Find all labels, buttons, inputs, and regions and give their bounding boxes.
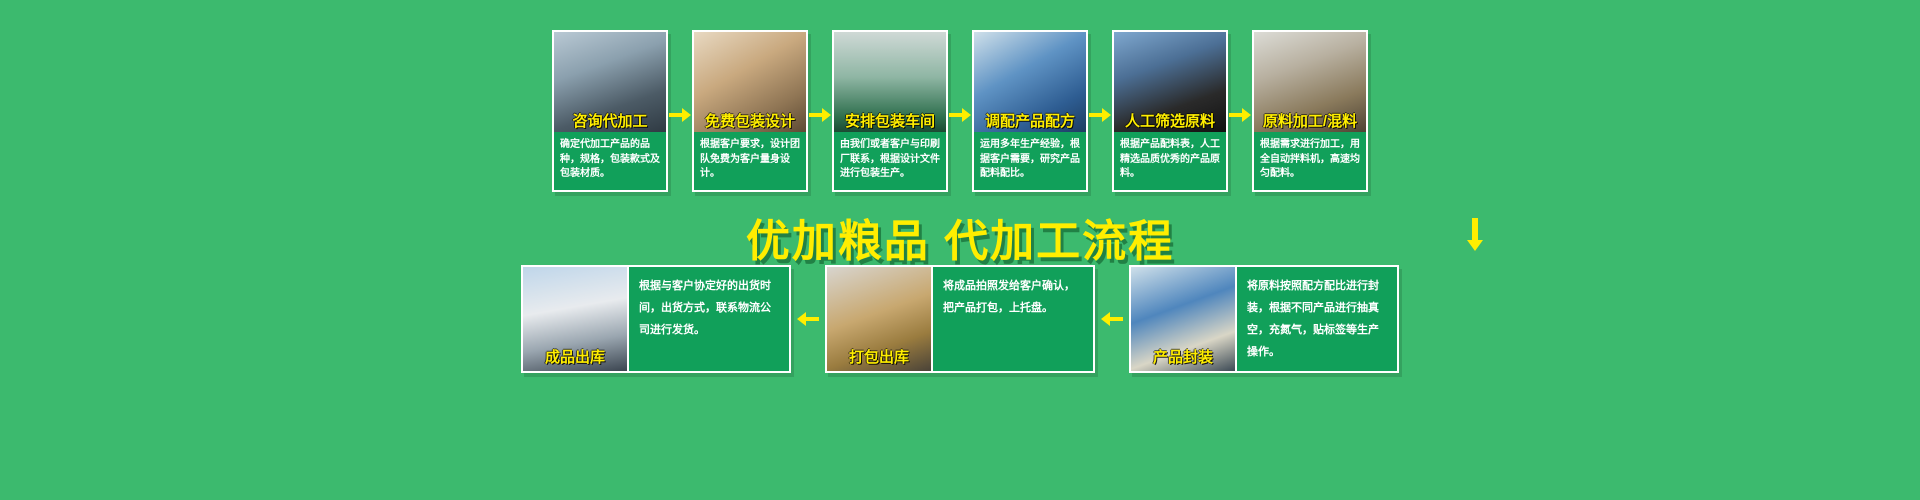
- step-badge-1: 咨询代加工: [554, 114, 666, 131]
- step-badge-4: 调配产品配方: [974, 114, 1086, 131]
- step-desc-8: 将成品拍照发给客户确认，把产品打包，上托盘。: [933, 267, 1093, 371]
- page-title: 优加粮品 代加工流程: [0, 205, 1920, 269]
- arrow-right-icon-2: [808, 30, 832, 200]
- step-desc-7: 将原料按照配方配比进行封装，根据不同产品进行抽真空，充氮气，贴标签等生产操作。: [1237, 267, 1397, 371]
- step-desc-1: 确定代加工产品的品种，规格，包装款式及包装材质。: [554, 132, 666, 190]
- arrow-left-icon-2: [1095, 265, 1129, 373]
- step-card-9[interactable]: 成品出库 根据与客户协定好的出货时间，出货方式，联系物流公司进行发货。: [521, 265, 791, 373]
- arrow-right-icon-5: [1228, 30, 1252, 200]
- step-photo-2: 免费包装设计: [694, 32, 806, 132]
- step-photo-5: 人工筛选原料: [1114, 32, 1226, 132]
- step-card-2[interactable]: 免费包装设计 根据客户要求，设计团队免费为客户量身设计。: [692, 30, 808, 192]
- top-step-row: 咨询代加工 确定代加工产品的品种，规格，包装款式及包装材质。 免费包装设计 根据…: [0, 30, 1920, 200]
- step-badge-2: 免费包装设计: [694, 114, 806, 131]
- step-badge-3: 安排包装车间: [834, 114, 946, 131]
- step-card-6[interactable]: 原料加工/混料 根据需求进行加工，用全自动拌料机，高速均匀配料。: [1252, 30, 1368, 192]
- step-photo-9: 成品出库: [523, 267, 629, 371]
- step-desc-3: 由我们或者客户与印刷厂联系，根据设计文件进行包装生产。: [834, 132, 946, 190]
- step-desc-9: 根据与客户协定好的出货时间，出货方式，联系物流公司进行发货。: [629, 267, 789, 371]
- step-desc-6: 根据需求进行加工，用全自动拌料机，高速均匀配料。: [1254, 132, 1366, 190]
- step-photo-1: 咨询代加工: [554, 32, 666, 132]
- arrow-right-icon-3: [948, 30, 972, 200]
- step-photo-7: 产品封装: [1131, 267, 1237, 371]
- step-photo-4: 调配产品配方: [974, 32, 1086, 132]
- step-card-3[interactable]: 安排包装车间 由我们或者客户与印刷厂联系，根据设计文件进行包装生产。: [832, 30, 948, 192]
- step-badge-5: 人工筛选原料: [1114, 114, 1226, 131]
- step-card-4[interactable]: 调配产品配方 运用多年生产经验，根据客户需要，研究产品配料配比。: [972, 30, 1088, 192]
- bottom-step-row: 成品出库 根据与客户协定好的出货时间，出货方式，联系物流公司进行发货。 打包出库…: [0, 265, 1920, 375]
- step-badge-9: 成品出库: [523, 350, 627, 367]
- step-desc-5: 根据产品配料表，人工精选品质优秀的产品原料。: [1114, 132, 1226, 190]
- step-photo-6: 原料加工/混料: [1254, 32, 1366, 132]
- step-desc-4: 运用多年生产经验，根据客户需要，研究产品配料配比。: [974, 132, 1086, 190]
- arrow-left-icon-1: [791, 265, 825, 373]
- arrow-right-icon-4: [1088, 30, 1112, 200]
- step-badge-6: 原料加工/混料: [1254, 114, 1366, 131]
- step-card-1[interactable]: 咨询代加工 确定代加工产品的品种，规格，包装款式及包装材质。: [552, 30, 668, 192]
- step-card-5[interactable]: 人工筛选原料 根据产品配料表，人工精选品质优秀的产品原料。: [1112, 30, 1228, 192]
- step-card-8[interactable]: 打包出库 将成品拍照发给客户确认，把产品打包，上托盘。: [825, 265, 1095, 373]
- step-badge-7: 产品封装: [1131, 350, 1235, 367]
- step-photo-3: 安排包装车间: [834, 32, 946, 132]
- step-photo-8: 打包出库: [827, 267, 933, 371]
- step-card-7[interactable]: 产品封装 将原料按照配方配比进行封装，根据不同产品进行抽真空，充氮气，贴标签等生…: [1129, 265, 1399, 373]
- arrow-down-icon: [1455, 205, 1495, 265]
- step-badge-8: 打包出库: [827, 350, 931, 367]
- step-desc-2: 根据客户要求，设计团队免费为客户量身设计。: [694, 132, 806, 190]
- arrow-right-icon-1: [668, 30, 692, 200]
- process-flow-infographic: 咨询代加工 确定代加工产品的品种，规格，包装款式及包装材质。 免费包装设计 根据…: [0, 0, 1920, 500]
